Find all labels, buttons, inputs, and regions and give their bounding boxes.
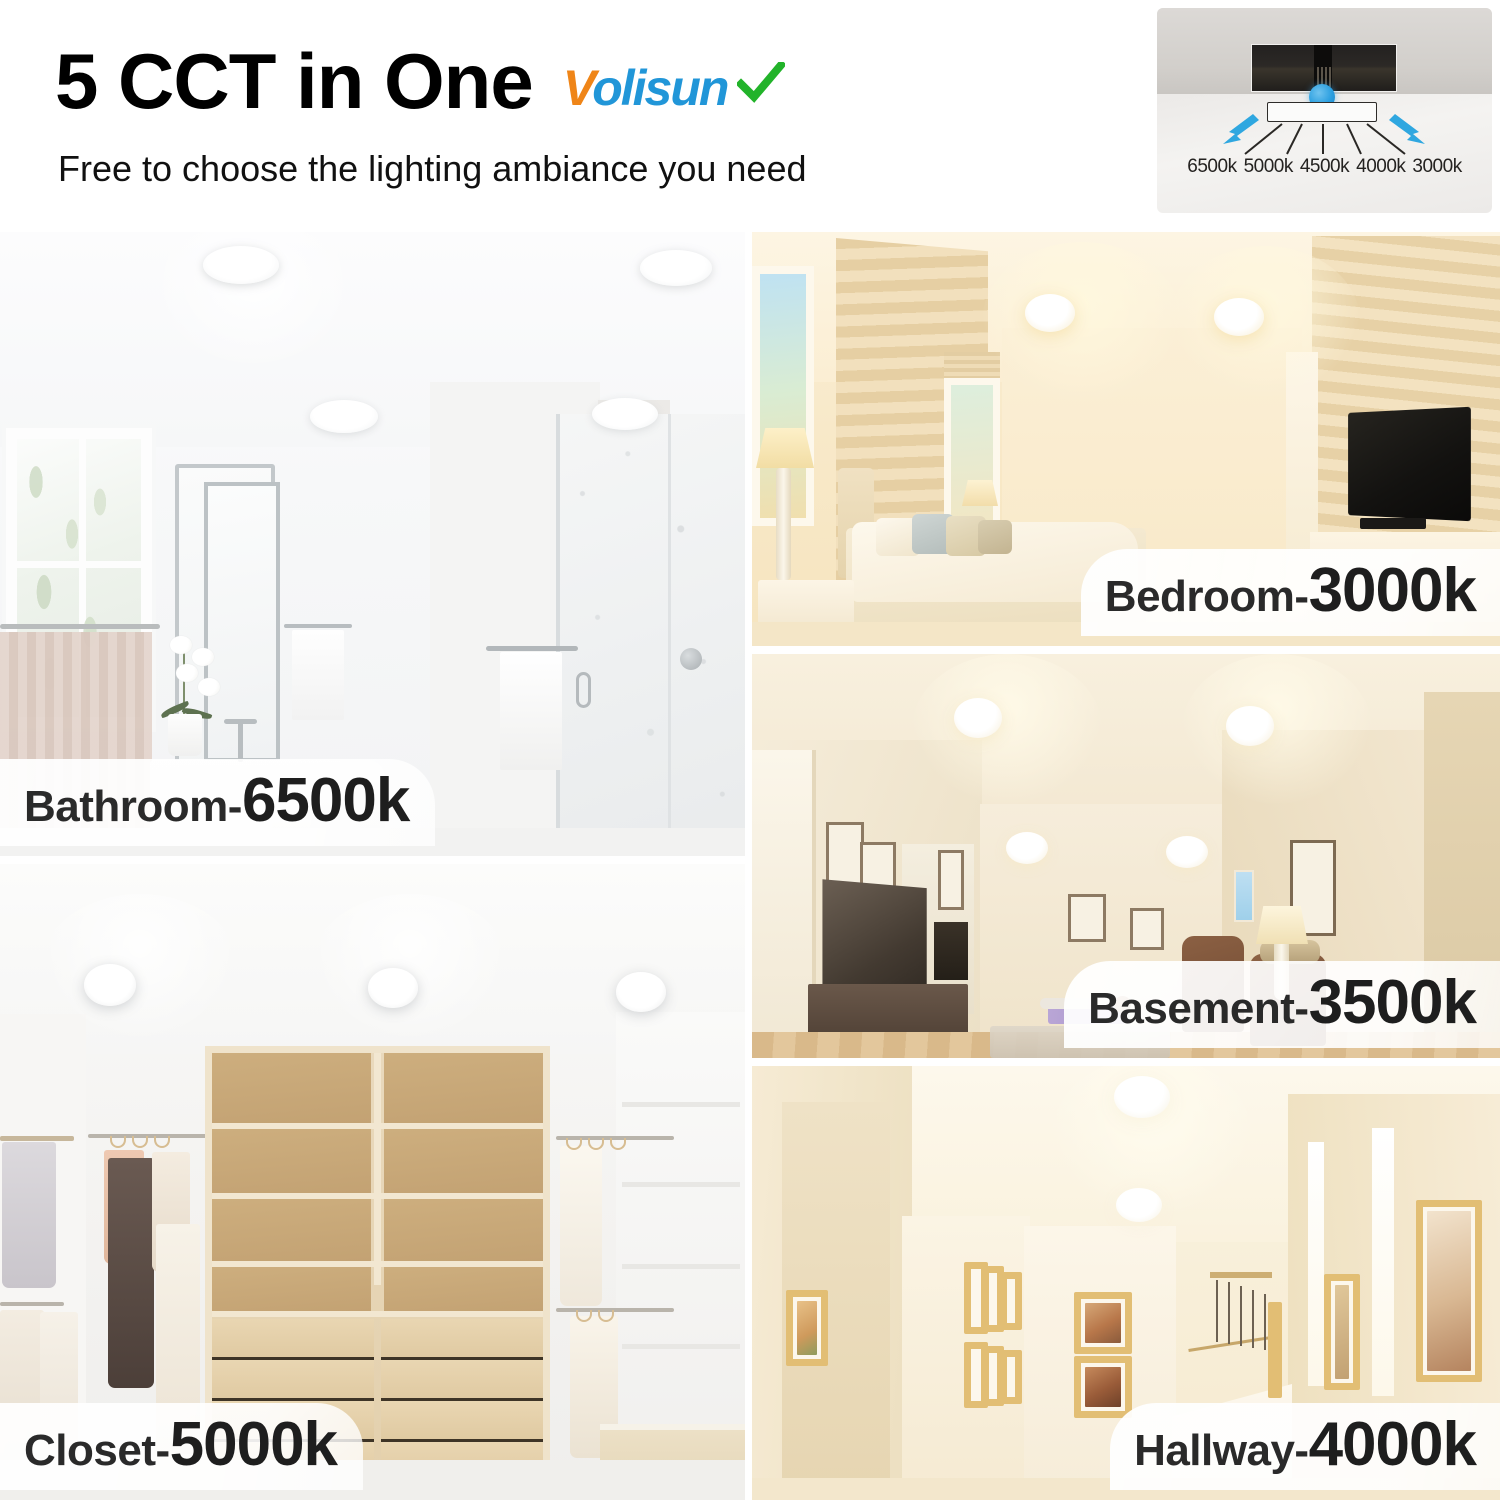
shelf-cubby [212, 1053, 371, 1123]
wall-tv [1348, 407, 1471, 521]
cct-option-list: 6500k 5000k 4500k 4000k 3000k [1157, 156, 1492, 178]
brand-wordmark: Volisun [563, 63, 728, 113]
photo-grid: Bathroom- 6500k [0, 232, 1500, 1500]
ceiling-light [368, 968, 418, 1008]
ceiling-light [1214, 298, 1264, 336]
drawer [381, 1319, 543, 1360]
shower-handle [576, 672, 591, 708]
shelf-cubby [384, 1129, 543, 1193]
ceiling-light [954, 698, 1002, 738]
caption-room-label: Closet- [24, 1426, 170, 1476]
brand-rest: olisun [592, 60, 727, 116]
caption-basement: Basement- 3500k [1064, 961, 1500, 1048]
page-title: 5 CCT in One [55, 42, 533, 120]
framed-art [938, 850, 964, 910]
soundbar [1360, 518, 1426, 529]
towel-bar [284, 624, 352, 628]
framed-art [1268, 1302, 1282, 1398]
faucet [238, 722, 243, 762]
lamp-shade-secondary [962, 480, 998, 506]
hanging-garment [2, 1142, 56, 1288]
ceiling-light [640, 250, 712, 286]
ceiling-light [1226, 706, 1274, 746]
caption-kelvin-value: 4000k [1309, 1409, 1476, 1480]
brand-initial: V [563, 60, 593, 116]
cct-leader-lines [1157, 8, 1492, 213]
orchid-pot [168, 714, 202, 756]
stair-baluster [1228, 1282, 1230, 1344]
door [752, 750, 816, 1050]
caption-kelvin-value: 3500k [1309, 967, 1476, 1038]
stair-baluster [1216, 1280, 1218, 1342]
caption-room-label: Hallway- [1134, 1426, 1309, 1476]
panel-closet: Closet- 5000k [0, 864, 745, 1500]
light-slot [1308, 1142, 1324, 1386]
framed-art [1324, 1274, 1360, 1390]
framed-portrait [1416, 1200, 1482, 1382]
white-shelf [622, 1264, 740, 1269]
hanging-rod [88, 1134, 208, 1138]
caption-room-label: Bathroom- [24, 782, 242, 832]
shelf-cubby [212, 1267, 371, 1311]
hanger-icon [132, 1136, 148, 1148]
hanger-icon [154, 1136, 170, 1148]
lamp-stand [776, 468, 791, 580]
framed-photo [1074, 1356, 1132, 1418]
panel-bedroom: Bedroom- 3000k [752, 232, 1500, 646]
shower-valve [680, 648, 702, 670]
white-shelf [622, 1102, 740, 1107]
shower-enclosure [556, 414, 745, 856]
ceiling-light [616, 972, 666, 1012]
drawer [212, 1360, 374, 1401]
stair-baluster [1264, 1294, 1266, 1350]
towel-2 [500, 652, 562, 770]
fireplace-opening [934, 922, 968, 980]
hanging-rod [0, 1302, 64, 1306]
towel [292, 630, 344, 720]
light-slot [1372, 1128, 1394, 1396]
hanging-garment [560, 1146, 602, 1306]
panel-bathroom: Bathroom- 6500k [0, 232, 745, 856]
drawer [212, 1319, 374, 1360]
caption-room-label: Bedroom- [1105, 572, 1309, 622]
caption-hallway: Hallway- 4000k [1110, 1403, 1500, 1490]
ceiling-light [1166, 836, 1208, 868]
cct-option-4500k: 4500k [1300, 156, 1349, 178]
white-shelf [622, 1182, 740, 1187]
shelf-cubby [384, 1267, 543, 1311]
cct-option-6500k: 6500k [1187, 156, 1236, 178]
ceiling-light [203, 246, 279, 284]
caption-closet: Closet- 5000k [0, 1403, 363, 1490]
cct-selector-diagram: 6500k 5000k 4500k 4000k 3000k [1157, 8, 1492, 213]
framed-photo [1074, 1292, 1132, 1354]
pillow [978, 520, 1012, 554]
shelf-cubby [212, 1199, 371, 1261]
hanger-icon [110, 1136, 126, 1148]
drawer [381, 1360, 543, 1401]
framed-art [786, 1290, 828, 1366]
orchid-bloom [170, 636, 192, 654]
white-shelf [622, 1344, 740, 1349]
cct-option-5000k: 5000k [1244, 156, 1293, 178]
curtain-rod [0, 624, 160, 629]
framed-art [1000, 1272, 1022, 1330]
brand-logo: Volisun [563, 63, 786, 113]
panel-hallway: Hallway- 4000k [752, 1066, 1500, 1500]
ceiling-light [310, 400, 378, 433]
page-subtitle: Free to choose the lighting ambiance you… [58, 148, 807, 190]
lamp-shade [756, 428, 814, 468]
shelf-cubby [384, 1199, 543, 1261]
caption-kelvin-value: 6500k [242, 765, 409, 836]
stair-rail-top [1210, 1272, 1272, 1278]
green-check-icon [737, 62, 785, 111]
title-row: 5 CCT in One Volisun [55, 42, 785, 120]
caption-room-label: Basement- [1088, 984, 1308, 1034]
framed-art [1000, 1350, 1022, 1404]
infographic-page: 5 CCT in One Volisun Free to choose the … [0, 0, 1500, 1500]
orchid-bloom [198, 678, 220, 696]
basement-window [1234, 870, 1254, 922]
cct-option-4000k: 4000k [1356, 156, 1405, 178]
caption-kelvin-value: 3000k [1309, 555, 1476, 626]
shelf-divider [374, 1053, 381, 1285]
stair-baluster [1252, 1290, 1254, 1348]
ceiling-light [1006, 832, 1048, 864]
stair-baluster [1240, 1286, 1242, 1346]
shower-glass-edge [556, 414, 560, 856]
orchid-bloom [176, 664, 198, 682]
ceiling-light [592, 398, 658, 430]
framed-art [1130, 908, 1164, 950]
cct-option-3000k: 3000k [1412, 156, 1461, 178]
hanging-garment [108, 1158, 154, 1388]
shelf-cubby [212, 1129, 371, 1193]
hanging-rod [0, 1136, 74, 1141]
orchid-bloom [192, 648, 214, 666]
ceiling-light [84, 964, 136, 1006]
ceiling-light [1116, 1188, 1162, 1222]
shelf-board [212, 1311, 543, 1317]
hanging-rod [556, 1308, 674, 1312]
caption-bedroom: Bedroom- 3000k [1081, 549, 1500, 636]
towel-bar-2 [486, 646, 578, 651]
caption-bathroom: Bathroom- 6500k [0, 759, 435, 846]
drawer [381, 1401, 543, 1442]
shower-glass-edge-2 [668, 414, 671, 856]
panel-basement: Basement- 3500k [752, 654, 1500, 1058]
caption-kelvin-value: 5000k [170, 1409, 337, 1480]
ceiling-light [1025, 294, 1075, 332]
ceiling-light [1114, 1076, 1170, 1118]
framed-art [1068, 894, 1106, 942]
shelf-cubby [384, 1053, 543, 1123]
lamp-shade [1256, 906, 1308, 944]
